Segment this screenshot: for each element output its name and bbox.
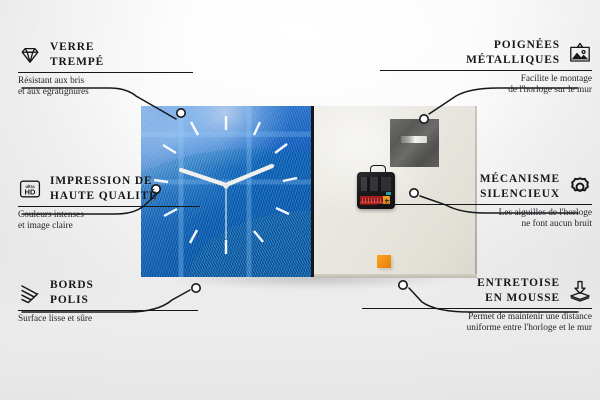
- feature-subtitle: Permet de maintenir une distance uniform…: [362, 312, 592, 335]
- feature-mecanisme-silencieux[interactable]: MÉCANISME SILENCIEUX Les aiguilles de l'…: [377, 172, 592, 231]
- feature-subtitle: Surface lisse et sûre: [18, 314, 198, 325]
- feature-sub-line1: Les aiguilles de l'horloge: [377, 208, 592, 219]
- feature-rule: [18, 72, 193, 73]
- svg-text:HD: HD: [25, 187, 36, 196]
- feature-title-line2: HAUTE QUALITÉ: [50, 189, 158, 204]
- feature-title-line2: POLIS: [50, 293, 94, 308]
- feature-title: IMPRESSION DE HAUTE QUALITÉ: [50, 174, 158, 203]
- feature-title-line1: IMPRESSION DE: [50, 174, 158, 189]
- feature-sub-line1: Facilite le montage: [380, 74, 592, 85]
- feature-title-line1: POIGNÉES: [466, 38, 560, 53]
- feature-title-line1: VERRE: [50, 40, 104, 55]
- feature-title-line1: BORDS: [50, 278, 94, 293]
- feature-header: VERRE TREMPÉ: [18, 40, 193, 69]
- connector-dot-poignees: [420, 115, 428, 123]
- feature-header: POIGNÉES MÉTALLIQUES: [380, 38, 592, 67]
- polished-edges-icon: [18, 281, 42, 305]
- feature-verre-trempe[interactable]: VERRE TREMPÉ Résistant aux bris et aux é…: [18, 40, 193, 99]
- feature-title: VERRE TREMPÉ: [50, 40, 104, 69]
- foam-spacer-arrow-icon: [568, 279, 592, 303]
- feature-title: ENTRETOISE EN MOUSSE: [477, 276, 560, 305]
- diamond-icon: [18, 43, 42, 67]
- gear-icon: [568, 175, 592, 199]
- feature-title-line2: EN MOUSSE: [477, 291, 560, 306]
- feature-header: MÉCANISME SILENCIEUX: [377, 172, 592, 201]
- hanging-frame-icon: [568, 41, 592, 65]
- feature-title-line2: TREMPÉ: [50, 55, 104, 70]
- feature-sub-line2: ne font aucun bruit: [377, 219, 592, 230]
- feature-rule: [18, 310, 198, 311]
- feature-sub-line2: et image claire: [18, 221, 200, 232]
- feature-subtitle: Les aiguilles de l'horloge ne font aucun…: [377, 208, 592, 231]
- feature-entretoise-en-mousse[interactable]: ENTRETOISE EN MOUSSE Permet de maintenir…: [362, 276, 592, 335]
- feature-sub-line2: uniforme entre l'horloge et le mur: [362, 323, 592, 334]
- feature-sub-line1: Surface lisse et sûre: [18, 314, 198, 325]
- feature-impression-haute-qualite[interactable]: ultra HD IMPRESSION DE HAUTE QUALITÉ Cou…: [18, 174, 200, 233]
- feature-title: POIGNÉES MÉTALLIQUES: [466, 38, 560, 67]
- feature-bords-polis[interactable]: BORDS POLIS Surface lisse et sûre: [18, 278, 198, 325]
- feature-title-line1: ENTRETOISE: [477, 276, 560, 291]
- feature-title: MÉCANISME SILENCIEUX: [480, 172, 560, 201]
- feature-sub-line2: et aux égratignures: [18, 87, 193, 98]
- feature-rule: [380, 70, 592, 71]
- ultra-hd-badge-icon: ultra HD: [18, 177, 42, 201]
- feature-subtitle: Couleurs intenses et image claire: [18, 210, 200, 233]
- feature-poignees-metalliques[interactable]: POIGNÉES MÉTALLIQUES Facilite le montage…: [380, 38, 592, 97]
- feature-subtitle: Facilite le montage de l'horloge sur le …: [380, 74, 592, 97]
- feature-title-line2: SILENCIEUX: [480, 187, 560, 202]
- feature-header: ultra HD IMPRESSION DE HAUTE QUALITÉ: [18, 174, 200, 203]
- feature-header: ENTRETOISE EN MOUSSE: [362, 276, 592, 305]
- feature-sub-line1: Permet de maintenir une distance: [362, 312, 592, 323]
- feature-rule: [18, 206, 200, 207]
- feature-rule: [377, 204, 592, 205]
- connector-dot-verre-trempe: [177, 109, 185, 117]
- feature-sub-line1: Résistant aux bris: [18, 76, 193, 87]
- feature-header: BORDS POLIS: [18, 278, 198, 307]
- feature-subtitle: Résistant aux bris et aux égratignures: [18, 76, 193, 99]
- feature-sub-line1: Couleurs intenses: [18, 210, 200, 221]
- feature-rule: [362, 308, 592, 309]
- feature-title-line1: MÉCANISME: [480, 172, 560, 187]
- feature-sub-line2: de l'horloge sur le mur: [380, 85, 592, 96]
- feature-title: BORDS POLIS: [50, 278, 94, 307]
- feature-title-line2: MÉTALLIQUES: [466, 53, 560, 68]
